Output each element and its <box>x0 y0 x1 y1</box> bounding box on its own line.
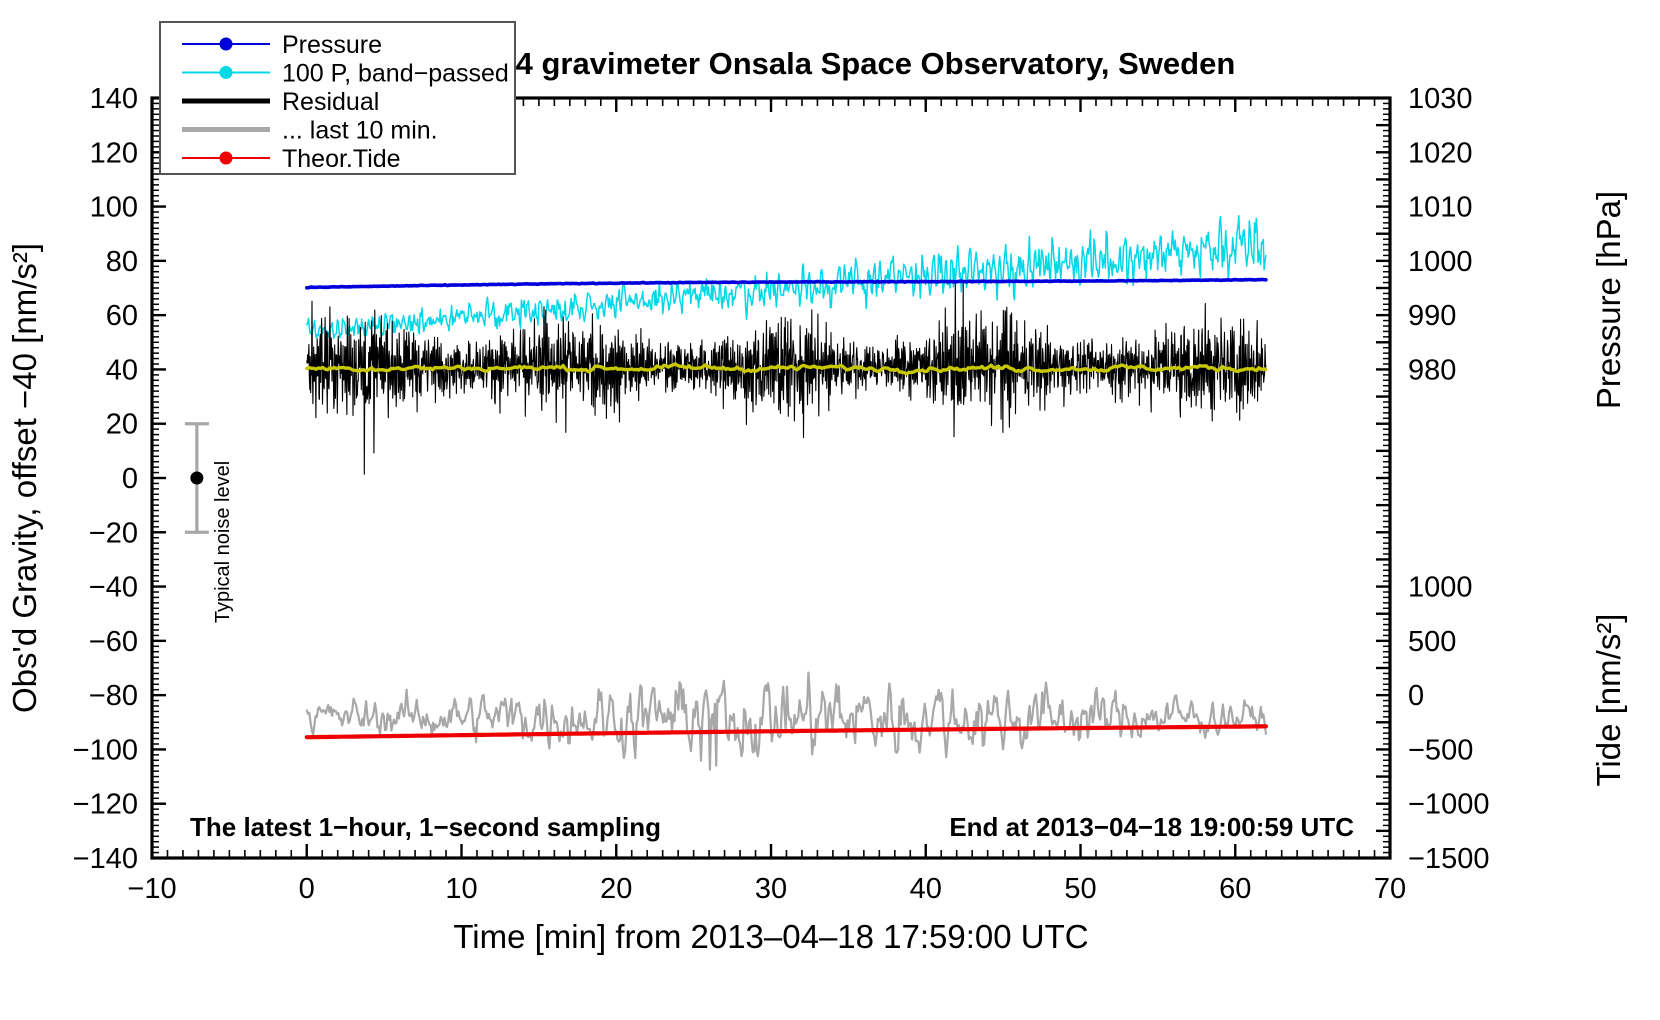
svg-text:−1500: −1500 <box>1408 843 1489 875</box>
svg-text:20: 20 <box>106 409 138 441</box>
svg-text:1030: 1030 <box>1408 83 1473 115</box>
svg-text:20: 20 <box>600 873 632 905</box>
y-axis-title-pressure: Pressure [hPa] <box>1590 191 1627 409</box>
legend-marker-dot <box>220 38 233 51</box>
svg-text:−100: −100 <box>73 734 138 766</box>
legend-marker-dot <box>220 66 233 79</box>
svg-text:40: 40 <box>910 873 942 905</box>
y-axis-title-left: Obs'd Gravity, offset −40 [nm/s²] <box>6 243 43 713</box>
svg-text:80: 80 <box>106 246 138 278</box>
svg-text:−60: −60 <box>89 626 138 658</box>
legend[interactable]: Pressure100 P, band−passedResidual... la… <box>160 22 515 174</box>
svg-text:30: 30 <box>755 873 787 905</box>
chart-title: SCG_054 gravimeter Onsala Space Observat… <box>397 46 1236 81</box>
svg-text:60: 60 <box>106 300 138 332</box>
svg-text:10: 10 <box>445 873 477 905</box>
typical-noise-level-label: Typical noise level <box>212 461 234 623</box>
svg-text:1000: 1000 <box>1408 572 1473 604</box>
svg-text:0: 0 <box>122 463 138 495</box>
svg-text:−20: −20 <box>89 517 138 549</box>
end-time-note: End at 2013−04−18 19:00:59 UTC <box>949 812 1354 842</box>
svg-text:980: 980 <box>1408 354 1456 386</box>
x-axis-title: Time [min] from 2013–04–18 17:59:00 UTC <box>453 918 1088 955</box>
sampling-note: The latest 1−hour, 1−second sampling <box>190 812 661 842</box>
legend-label: ... last 10 min. <box>282 117 438 145</box>
svg-text:140: 140 <box>90 83 138 115</box>
svg-text:1000: 1000 <box>1408 246 1473 278</box>
svg-text:990: 990 <box>1408 300 1456 332</box>
legend-label: Residual <box>282 88 379 116</box>
gravimeter-plot-page: −10010203040506070 140120100806040200−20… <box>0 0 1660 1020</box>
svg-text:1010: 1010 <box>1408 192 1473 224</box>
svg-text:500: 500 <box>1408 626 1456 658</box>
svg-text:1020: 1020 <box>1408 137 1473 169</box>
svg-text:50: 50 <box>1064 873 1096 905</box>
gravimeter-chart: −10010203040506070 140120100806040200−20… <box>0 0 1660 1020</box>
svg-text:−120: −120 <box>73 789 138 821</box>
svg-text:−140: −140 <box>73 843 138 875</box>
svg-text:−500: −500 <box>1408 734 1473 766</box>
svg-text:40: 40 <box>106 354 138 386</box>
svg-text:0: 0 <box>1408 680 1424 712</box>
legend-marker-dot <box>220 152 233 165</box>
svg-text:70: 70 <box>1374 873 1406 905</box>
svg-text:100: 100 <box>90 192 138 224</box>
legend-label: Theor.Tide <box>282 145 401 173</box>
y-axis-title-tide: Tide [nm/s²] <box>1590 614 1627 787</box>
svg-text:−40: −40 <box>89 572 138 604</box>
svg-text:0: 0 <box>299 873 315 905</box>
svg-text:−1000: −1000 <box>1408 789 1489 821</box>
noise-center-dot <box>190 472 203 485</box>
svg-text:60: 60 <box>1219 873 1251 905</box>
svg-text:−10: −10 <box>127 873 176 905</box>
svg-text:120: 120 <box>90 137 138 169</box>
legend-label: 100 P, band−passed <box>282 60 509 88</box>
svg-text:−80: −80 <box>89 680 138 712</box>
legend-label: Pressure <box>282 31 382 59</box>
